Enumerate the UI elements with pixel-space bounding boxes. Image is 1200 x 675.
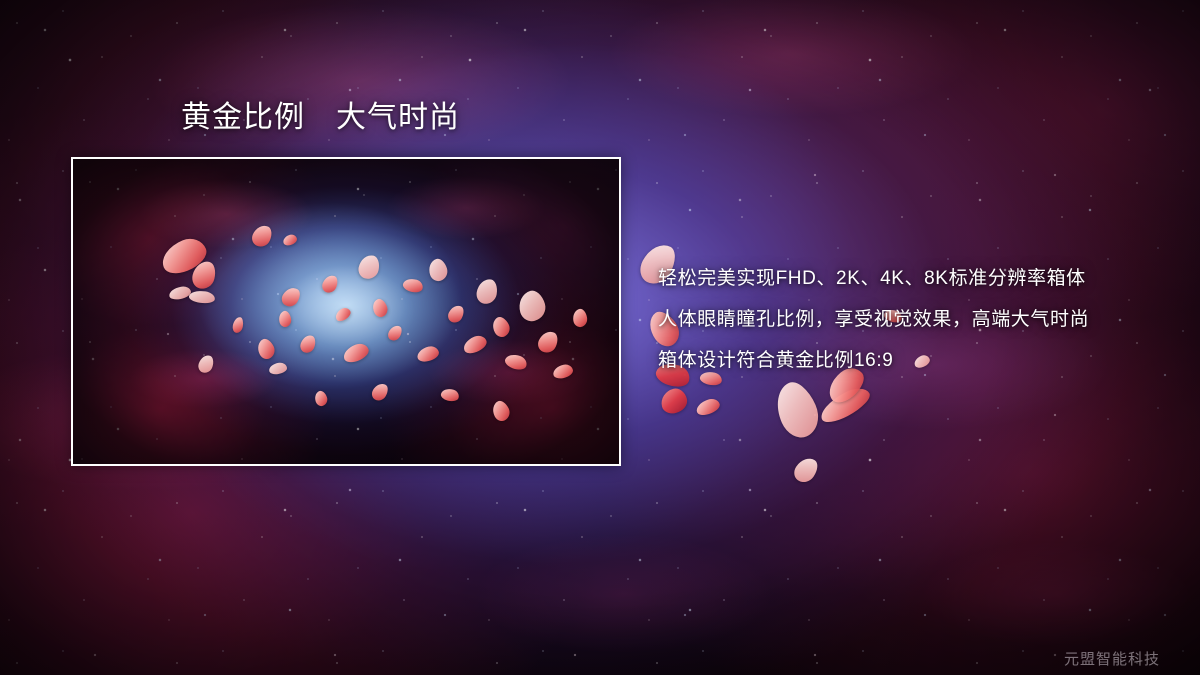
image-frame (71, 157, 621, 466)
watermark: 元盟智能科技 (1064, 648, 1160, 669)
body-line-2: 人体眼睛瞳孔比例，享受视觉效果，高端大气时尚 (658, 299, 1089, 340)
body-line-3: 箱体设计符合黄金比例16:9 (658, 340, 1089, 381)
body-line-1: 轻松完美实现FHD、2K、4K、8K标准分辨率箱体 (658, 258, 1089, 299)
body-text-block: 轻松完美实现FHD、2K、4K、8K标准分辨率箱体 人体眼睛瞳孔比例，享受视觉效… (658, 258, 1089, 381)
page-title: 黄金比例 大气时尚 (181, 101, 460, 135)
presentation-slide: 黄金比例 大气时尚 轻松完美实现FHD、2K、4K、8K标准分辨率箱体 人体眼睛… (0, 0, 1200, 675)
